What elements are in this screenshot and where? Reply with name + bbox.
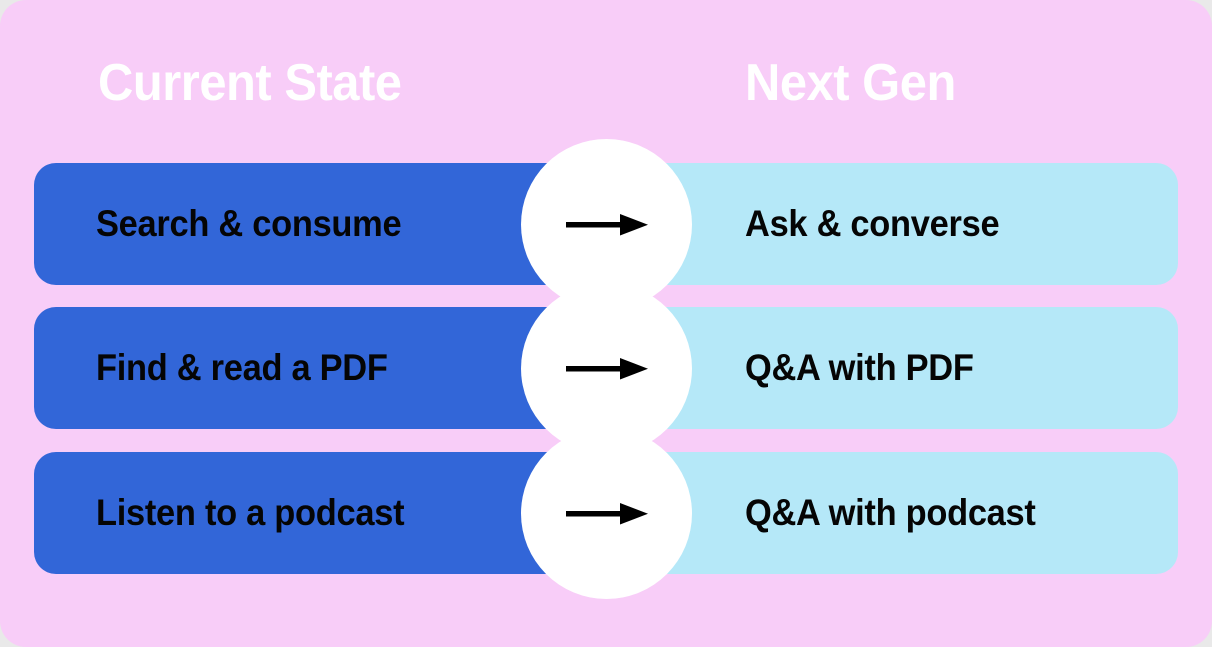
arrow-right-icon [566, 208, 648, 242]
connector-circles [0, 0, 1212, 647]
page-backdrop: Current State Next Gen Search & consume … [0, 0, 1212, 647]
arrow-right-icon [566, 352, 648, 386]
connector-circle [521, 428, 692, 599]
arrow-right-icon [566, 497, 648, 531]
comparison-card: Current State Next Gen Search & consume … [0, 0, 1212, 647]
